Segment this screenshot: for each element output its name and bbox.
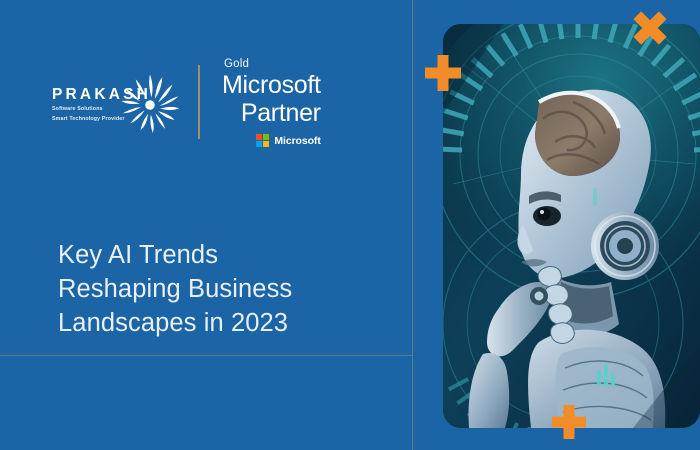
microsoft-partner-badge: Gold Microsoft Partner Microsoft	[222, 57, 321, 148]
headline-line-1: Key AI Trends	[58, 239, 398, 273]
cross-icon-top-right	[632, 10, 668, 46]
hero-image	[443, 24, 700, 428]
plus-icon-bottom	[552, 405, 586, 439]
sunburst-icon	[116, 69, 184, 137]
microsoft-square-yellow	[263, 141, 269, 147]
microsoft-logo: Microsoft	[256, 134, 321, 148]
partner-role-label: Partner	[241, 100, 321, 126]
microsoft-square-green	[263, 134, 269, 140]
partner-tier-label: Gold	[224, 59, 249, 71]
vertical-rule	[412, 0, 413, 450]
prakash-logo: PRAKASH Software Solutions Smart Technol…	[52, 57, 184, 147]
microsoft-square-blue	[256, 141, 262, 147]
microsoft-wordmark: Microsoft	[274, 135, 320, 147]
horizontal-rule	[0, 355, 412, 356]
microsoft-square-red	[256, 134, 262, 140]
headline-line-2: Reshaping Business	[58, 273, 398, 307]
partner-company-label: Microsoft	[222, 72, 321, 100]
logo-lockup: PRAKASH Software Solutions Smart Technol…	[52, 57, 321, 147]
microsoft-squares-icon	[256, 134, 270, 148]
slide-canvas: PRAKASH Software Solutions Smart Technol…	[0, 0, 700, 450]
lockup-divider	[198, 65, 200, 139]
page-title: Key AI Trends Reshaping Business Landsca…	[58, 239, 398, 341]
plus-icon-left	[425, 55, 461, 91]
headline-line-3: Landscapes in 2023	[58, 307, 398, 341]
